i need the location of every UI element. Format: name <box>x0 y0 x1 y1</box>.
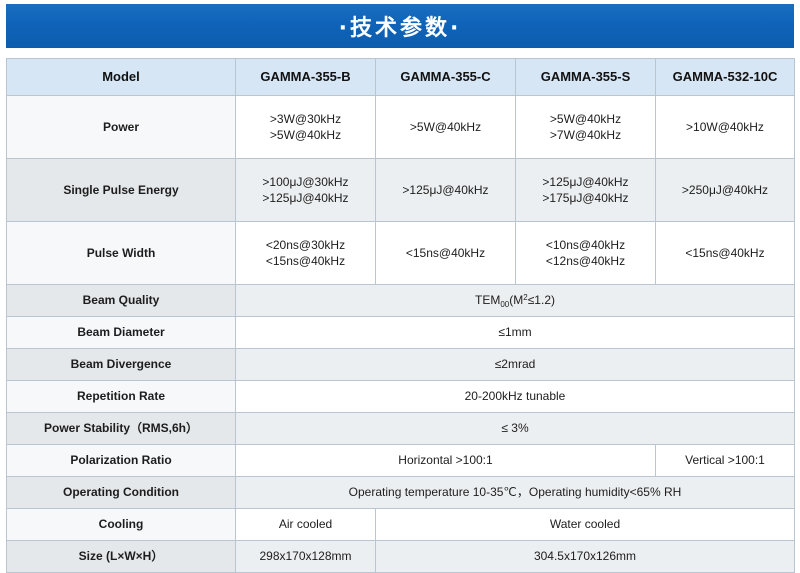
row-label-beam-diameter: Beam Diameter <box>7 317 236 349</box>
row-label-beam-divergence: Beam Divergence <box>7 349 236 381</box>
cell-line: >5W@40kHz <box>522 111 649 127</box>
specifications-table: Model GAMMA-355-B GAMMA-355-C GAMMA-355-… <box>6 58 795 573</box>
cell-size-rest: 304.5x170x126mm <box>376 541 795 573</box>
spec-sheet-page: ·技术参数· Model GAMMA-355-B GAMMA-355-C GAM… <box>0 0 800 558</box>
table-row: Polarization Ratio Horizontal >100:1 Ver… <box>7 445 795 477</box>
cell-pulsewidth-b: <20ns@30kHz <15ns@40kHz <box>236 222 376 285</box>
cell-line: >175μJ@40kHz <box>522 190 649 206</box>
row-label-power-stability: Power Stability（RMS,6h） <box>7 413 236 445</box>
cell-beam-divergence-value: ≤2mrad <box>236 349 795 381</box>
page-title: ·技术参数· <box>339 10 462 42</box>
table-row: Power >3W@30kHz >5W@40kHz >5W@40kHz >5W@… <box>7 96 795 159</box>
specifications-table-wrapper: Model GAMMA-355-B GAMMA-355-C GAMMA-355-… <box>6 58 794 573</box>
cell-polarization-horizontal: Horizontal >100:1 <box>236 445 656 477</box>
cell-cooling-water: Water cooled <box>376 509 795 541</box>
cell-beam-quality-value: TEM00(M2≤1.2) <box>236 285 795 317</box>
cell-line: <12ns@40kHz <box>522 253 649 269</box>
table-row: Single Pulse Energy >100μJ@30kHz >125μJ@… <box>7 159 795 222</box>
cell-power-c: >5W@40kHz <box>376 96 516 159</box>
table-row: Size (L×W×H） 298x170x128mm 304.5x170x126… <box>7 541 795 573</box>
row-label-beam-quality: Beam Quality <box>7 285 236 317</box>
table-row: Power Stability（RMS,6h） ≤ 3% <box>7 413 795 445</box>
row-label-pulse-width: Pulse Width <box>7 222 236 285</box>
table-row: Operating Condition Operating temperatur… <box>7 477 795 509</box>
table-row: Beam Divergence ≤2mrad <box>7 349 795 381</box>
cell-energy-532: >250μJ@40kHz <box>656 159 795 222</box>
cell-polarization-vertical: Vertical >100:1 <box>656 445 795 477</box>
table-row: Repetition Rate 20-200kHz tunable <box>7 381 795 413</box>
beam-quality-mid: (M <box>509 293 523 307</box>
cell-power-532: >10W@40kHz <box>656 96 795 159</box>
cell-line: <15ns@40kHz <box>242 253 369 269</box>
cell-pulsewidth-532: <15ns@40kHz <box>656 222 795 285</box>
table-row: Pulse Width <20ns@30kHz <15ns@40kHz <15n… <box>7 222 795 285</box>
cell-line: >125μJ@40kHz <box>242 190 369 206</box>
cell-line: >7W@40kHz <box>522 127 649 143</box>
row-label-repetition-rate: Repetition Rate <box>7 381 236 413</box>
table-row: Beam Diameter ≤1mm <box>7 317 795 349</box>
cell-power-stability-value: ≤ 3% <box>236 413 795 445</box>
cell-power-s: >5W@40kHz >7W@40kHz <box>516 96 656 159</box>
beam-quality-sub: 00 <box>500 300 509 309</box>
cell-line: >100μJ@30kHz <box>242 174 369 190</box>
cell-cooling-air: Air cooled <box>236 509 376 541</box>
row-label-size: Size (L×W×H） <box>7 541 236 573</box>
table-row: Cooling Air cooled Water cooled <box>7 509 795 541</box>
beam-quality-suffix: ≤1.2) <box>528 293 555 307</box>
header-banner: ·技术参数· <box>6 4 794 48</box>
cell-operating-condition-value: Operating temperature 10-35℃，Operating h… <box>236 477 795 509</box>
cell-line: >5W@40kHz <box>242 127 369 143</box>
cell-size-b: 298x170x128mm <box>236 541 376 573</box>
column-header-gamma-355-c: GAMMA-355-C <box>376 59 516 96</box>
cell-beam-diameter-value: ≤1mm <box>236 317 795 349</box>
cell-line: >3W@30kHz <box>242 111 369 127</box>
row-label-polarization-ratio: Polarization Ratio <box>7 445 236 477</box>
cell-line: <10ns@40kHz <box>522 237 649 253</box>
column-header-gamma-532-10c: GAMMA-532-10C <box>656 59 795 96</box>
cell-pulsewidth-s: <10ns@40kHz <12ns@40kHz <box>516 222 656 285</box>
cell-energy-c: >125μJ@40kHz <box>376 159 516 222</box>
cell-energy-s: >125μJ@40kHz >175μJ@40kHz <box>516 159 656 222</box>
row-label-operating-condition: Operating Condition <box>7 477 236 509</box>
beam-quality-prefix: TEM <box>475 293 500 307</box>
row-label-power: Power <box>7 96 236 159</box>
table-row: Beam Quality TEM00(M2≤1.2) <box>7 285 795 317</box>
cell-line: <20ns@30kHz <box>242 237 369 253</box>
table-header-row: Model GAMMA-355-B GAMMA-355-C GAMMA-355-… <box>7 59 795 96</box>
cell-energy-b: >100μJ@30kHz >125μJ@40kHz <box>236 159 376 222</box>
column-header-gamma-355-b: GAMMA-355-B <box>236 59 376 96</box>
column-header-gamma-355-s: GAMMA-355-S <box>516 59 656 96</box>
row-label-single-pulse-energy: Single Pulse Energy <box>7 159 236 222</box>
beam-quality-sup: 2 <box>523 293 527 302</box>
column-header-model: Model <box>7 59 236 96</box>
cell-repetition-rate-value: 20-200kHz tunable <box>236 381 795 413</box>
cell-line: >125μJ@40kHz <box>522 174 649 190</box>
cell-power-b: >3W@30kHz >5W@40kHz <box>236 96 376 159</box>
cell-pulsewidth-c: <15ns@40kHz <box>376 222 516 285</box>
row-label-cooling: Cooling <box>7 509 236 541</box>
